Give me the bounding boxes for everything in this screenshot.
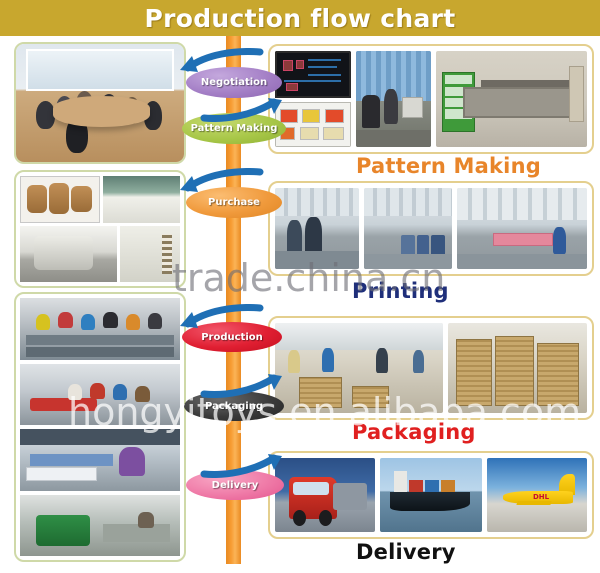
arrow-to-pattern-making [198, 96, 284, 122]
dhl-plane-photo: DHL [487, 458, 587, 532]
arrow-to-purchase [176, 168, 266, 194]
negotiation-panel [14, 42, 186, 164]
flow-node-delivery-label: Delivery [212, 480, 259, 491]
assembly-line-photo-1 [20, 298, 180, 360]
white-paper-stock-photo [103, 176, 181, 223]
flow-node-packaging-label: Packaging [205, 401, 263, 412]
arrow-to-packaging [198, 372, 284, 398]
green-machine-photo [20, 495, 180, 557]
kraft-paper-rolls-photo [20, 176, 100, 223]
flow-node-negotiation-label: Negotiation [201, 77, 267, 88]
purchase-panel [14, 170, 186, 288]
arrow-to-delivery [198, 452, 284, 478]
stage-label-printing: Printing [352, 279, 449, 303]
printing-panel [268, 181, 594, 276]
press-feed-photo [275, 188, 359, 269]
pattern-making-panel [268, 44, 594, 154]
stage-label-pattern-making: Pattern Making [356, 154, 541, 178]
stage-label-delivery: Delivery [356, 540, 456, 564]
press-hall-photo [364, 188, 452, 269]
press-operator-photo [20, 429, 180, 491]
container-ship-photo [380, 458, 482, 532]
page-title-bar: Production flow chart [0, 0, 600, 36]
truck-photo [275, 458, 375, 532]
assembly-line-photo-2 [20, 364, 180, 426]
corrugated-board-photo [120, 226, 180, 282]
arrow-to-negotiation [176, 48, 266, 74]
sheet-output-photo [457, 188, 587, 269]
packaging-panel [268, 316, 594, 420]
cutting-table-photo [436, 51, 587, 147]
flow-node-pattern-making-label: Pattern Making [191, 123, 278, 134]
dhl-logo-text: DHL [533, 493, 549, 501]
cad-screen-photo [275, 51, 351, 98]
paper-reel-photo [20, 226, 117, 282]
delivery-panel: DHL [268, 451, 594, 539]
production-flow-chart-image: Production flow chart [0, 0, 600, 573]
stage-label-packaging: Packaging [352, 420, 476, 444]
carton-stacks-photo [448, 323, 587, 413]
page-title: Production flow chart [144, 4, 455, 33]
production-panel [14, 292, 186, 562]
arrow-to-production [176, 304, 266, 330]
packing-floor-photo [275, 323, 443, 413]
meeting-room-photo [16, 44, 184, 162]
design-office-photo [356, 51, 432, 147]
flow-node-production-label: Production [201, 332, 263, 343]
color-layout-photo [275, 102, 351, 147]
flow-node-purchase-label: Purchase [208, 197, 260, 208]
